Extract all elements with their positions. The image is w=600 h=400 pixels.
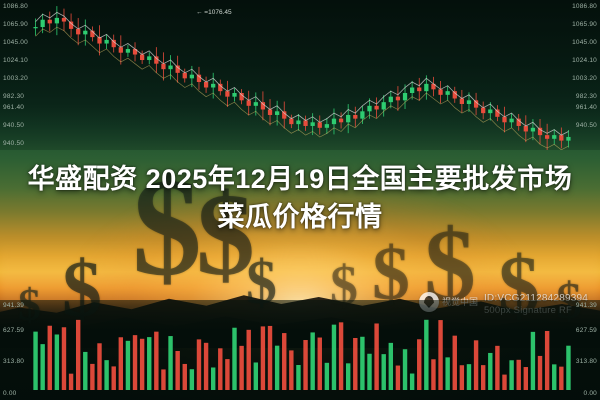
bottom-axis-left-tick: 941.39 — [3, 302, 24, 309]
top-axis-right-tick: 1003.20 — [572, 75, 597, 82]
top-axis-left-tick: 1003.20 — [3, 75, 28, 82]
volume-bar-series — [33, 320, 570, 390]
bottom-axis-right-tick: 0.00 — [584, 390, 597, 397]
bottom-axis-right-tick: 313.80 — [576, 358, 597, 365]
bottom-volume-chart: 941.39 627.59 313.80 0.00 941.39 627.59 … — [0, 300, 600, 400]
bottom-axis-right-tick: 941.39 — [576, 302, 597, 309]
bottom-axis-left-tick: 627.59 — [3, 327, 24, 334]
top-axis-left-tick: 1086.80 — [3, 3, 28, 10]
top-axis-left-tick: 940.50 — [3, 122, 24, 129]
top-axis-left-tick: 961.40 — [3, 104, 24, 111]
top-chart-svg — [0, 0, 600, 150]
bottom-axis-left-tick: 0.00 — [3, 390, 16, 397]
bottom-axis-left-tick: 313.80 — [3, 358, 24, 365]
top-axis-right-tick: 1024.10 — [572, 57, 597, 64]
top-axis-right-tick: 1086.80 — [572, 3, 597, 10]
bottom-axis-right-tick: 627.59 — [576, 327, 597, 334]
top-axis-left-tick: 982.30 — [3, 93, 24, 100]
top-axis-left-tick: 1024.10 — [3, 57, 28, 64]
top-axis-left-tick: 940.50 — [3, 140, 24, 147]
bottom-chart-svg — [0, 300, 600, 400]
top-axis-right-tick: 961.40 — [576, 104, 597, 111]
top-chart-annotation: ← =1076.45 — [196, 9, 232, 16]
moving-average-line — [36, 12, 569, 135]
candlestick-series — [33, 6, 570, 150]
top-axis-right-tick: 1065.90 — [572, 21, 597, 28]
top-axis-left-tick: 1065.90 — [3, 21, 28, 28]
image-canvas: $ $ $ $ $ $ $ $ $ $ ← =1076.45 1086.80 1… — [0, 0, 600, 400]
top-axis-right-tick: 1045.00 — [572, 39, 597, 46]
headline-text: 华盛配资 2025年12月19日全国主要批发市场菜瓜价格行情 — [0, 160, 600, 237]
top-axis-left-tick: 1045.00 — [3, 39, 28, 46]
top-axis-right-tick: 940.50 — [576, 122, 597, 129]
top-axis-right-tick: 982.30 — [576, 93, 597, 100]
top-candlestick-chart: ← =1076.45 1086.80 1065.90 1045.00 1024.… — [0, 0, 600, 150]
